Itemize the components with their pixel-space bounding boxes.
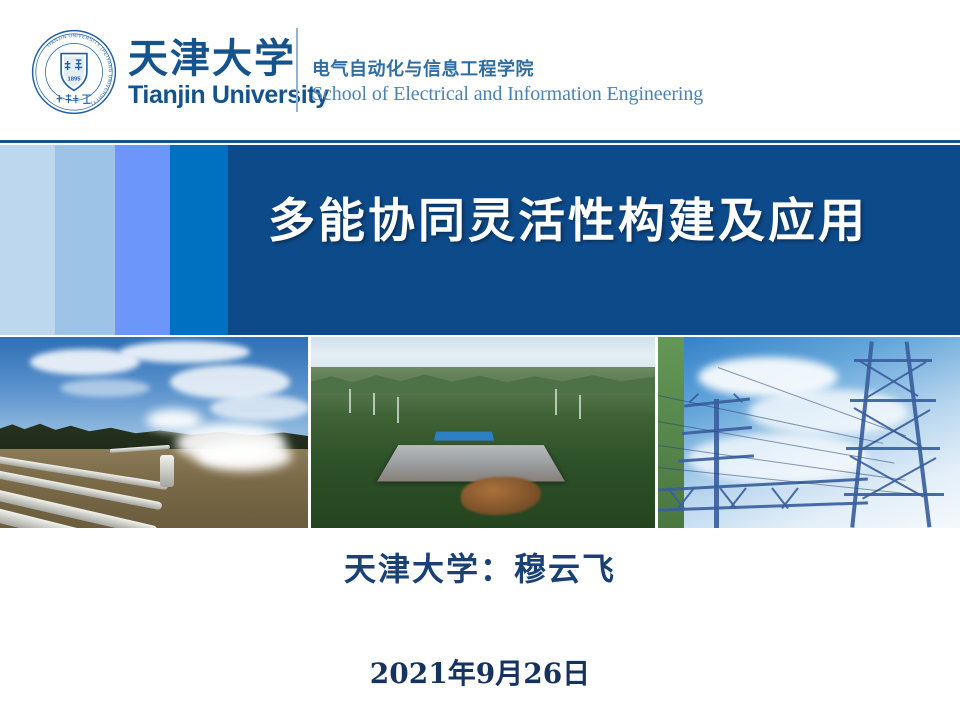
university-name-en: Tianjin University xyxy=(128,82,329,109)
university-wordmark: 天津大学 Tianjin University xyxy=(128,26,329,118)
presentation-title-slide: TIANJIN UNIVERSITY (PEIYANG UNIVERSITY) … xyxy=(0,0,960,720)
pylon-crossarm xyxy=(844,493,944,496)
presenter-line: 天津大学：穆云飞 xyxy=(0,548,960,590)
university-name-cn: 天津大学 xyxy=(128,36,329,82)
substation-yard xyxy=(377,445,565,481)
presentation-date: 2021年9月26日 xyxy=(0,656,960,692)
cloud-shape xyxy=(120,341,250,363)
cloud-shape xyxy=(210,395,308,421)
accent-stripe-1 xyxy=(0,145,55,335)
header-separator-line xyxy=(0,140,960,143)
transmission-tower xyxy=(579,395,581,419)
substation-building-roof xyxy=(434,432,494,441)
university-logo: TIANJIN UNIVERSITY (PEIYANG UNIVERSITY) … xyxy=(28,24,329,120)
photo-strip xyxy=(0,337,960,528)
photo-aerial-substation xyxy=(311,337,655,528)
transmission-tower xyxy=(349,389,351,413)
title-panel: 多能协同灵活性构建及应用 xyxy=(228,145,960,335)
school-name-block: 电气自动化与信息工程学院 School of Electrical and In… xyxy=(312,58,703,106)
accent-stripe-2 xyxy=(55,145,115,335)
foreground-grass xyxy=(658,337,684,528)
school-name-en: School of Electrical and Information Eng… xyxy=(312,82,703,106)
pylon-crossarm xyxy=(854,359,932,362)
pylon-crossarm xyxy=(846,447,940,450)
steam-plume xyxy=(196,441,292,471)
transmission-tower xyxy=(373,393,375,415)
cloud-shape xyxy=(170,365,290,399)
slide-header: TIANJIN UNIVERSITY (PEIYANG UNIVERSITY) … xyxy=(0,0,960,142)
cloud-shape xyxy=(60,379,150,397)
school-name-cn: 电气自动化与信息工程学院 xyxy=(312,58,703,82)
photo-transmission-towers xyxy=(658,337,960,528)
accent-stripe-3 xyxy=(115,145,170,335)
header-divider xyxy=(296,28,298,112)
photo-geothermal-plant xyxy=(0,337,308,528)
title-band: 多能协同灵活性构建及应用 xyxy=(0,145,960,335)
steam-stack xyxy=(160,455,174,487)
accent-stripe-4 xyxy=(170,145,228,335)
university-seal-icon: TIANJIN UNIVERSITY (PEIYANG UNIVERSITY) … xyxy=(28,26,120,118)
svg-text:1895: 1895 xyxy=(67,77,81,83)
slide-title: 多能协同灵活性构建及应用 xyxy=(268,191,948,253)
transmission-tower xyxy=(397,397,399,423)
pylon-crossarm xyxy=(850,399,936,402)
transmission-tower xyxy=(555,389,557,415)
